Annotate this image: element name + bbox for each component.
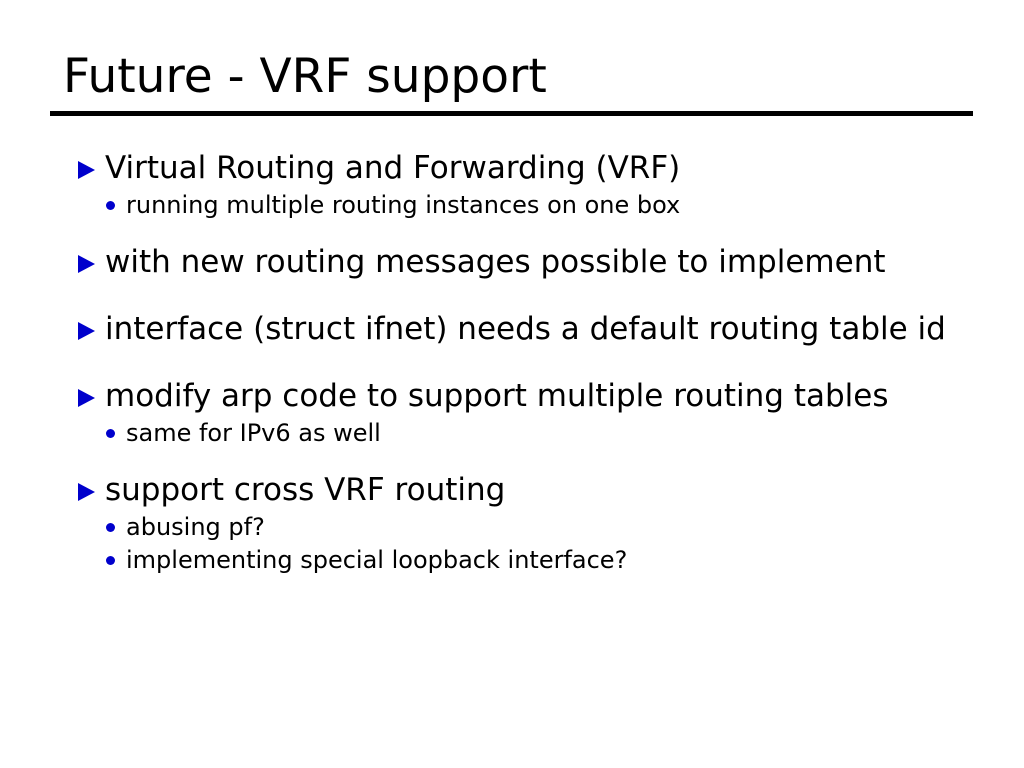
dot-icon xyxy=(106,201,115,210)
bullet-level1: interface (struct ifnet) needs a default… xyxy=(0,309,1024,350)
dot-icon xyxy=(106,556,115,565)
dot-icon xyxy=(106,429,115,438)
bullet-level1-label: modify arp code to support multiple rout… xyxy=(105,378,889,414)
bullet-level2: running multiple routing instances on on… xyxy=(0,189,1024,222)
bullet-level2: abusing pf? xyxy=(0,511,1024,544)
bullet-level2: implementing special loopback interface? xyxy=(0,544,1024,577)
bullet-level2-label: abusing pf? xyxy=(126,513,265,541)
bullet-level1-label: interface (struct ifnet) needs a default… xyxy=(105,311,946,347)
bullet-level2: same for IPv6 as well xyxy=(0,417,1024,450)
bullet-level1: with new routing messages possible to im… xyxy=(0,242,1024,283)
page-title: Future - VRF support xyxy=(63,49,547,105)
triangle-right-icon xyxy=(78,483,95,501)
bullet-level1-label: with new routing messages possible to im… xyxy=(105,244,886,280)
bullet-group: interface (struct ifnet) needs a default… xyxy=(0,309,1024,350)
bullet-group: Virtual Routing and Forwarding (VRF) run… xyxy=(0,148,1024,222)
bullet-level1: Virtual Routing and Forwarding (VRF) xyxy=(0,148,1024,189)
presentation-slide: Future - VRF support Virtual Routing and… xyxy=(0,0,1024,768)
triangle-right-icon xyxy=(78,389,95,407)
bullet-level1-label: support cross VRF routing xyxy=(105,472,505,508)
slide-body: Virtual Routing and Forwarding (VRF) run… xyxy=(0,148,1024,577)
bullet-group: with new routing messages possible to im… xyxy=(0,242,1024,283)
triangle-right-icon xyxy=(78,255,95,273)
bullet-level2-label: same for IPv6 as well xyxy=(126,419,381,447)
triangle-right-icon xyxy=(78,161,95,179)
bullet-level1: modify arp code to support multiple rout… xyxy=(0,376,1024,417)
title-underline-rule xyxy=(50,111,973,116)
bullet-level2-label: running multiple routing instances on on… xyxy=(126,191,680,219)
bullet-group: modify arp code to support multiple rout… xyxy=(0,376,1024,450)
triangle-right-icon xyxy=(78,322,95,340)
bullet-level1: support cross VRF routing xyxy=(0,470,1024,511)
dot-icon xyxy=(106,523,115,532)
bullet-group: support cross VRF routing abusing pf? im… xyxy=(0,470,1024,577)
bullet-level2-label: implementing special loopback interface? xyxy=(126,546,627,574)
bullet-level1-label: Virtual Routing and Forwarding (VRF) xyxy=(105,150,680,186)
